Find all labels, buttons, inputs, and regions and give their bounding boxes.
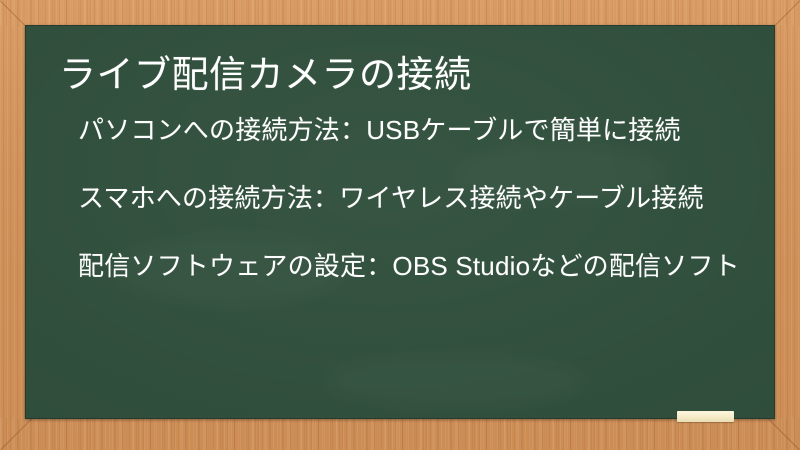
list-item: パソコンへの接続方法：USBケーブルで簡単に接続 [43,110,759,151]
list-item: スマホへの接続方法：ワイヤレス接続やケーブル接続 [43,178,759,219]
chalkboard-slide: ライブ配信カメラの接続 パソコンへの接続方法：USBケーブルで簡単に接続 スマホ… [0,0,800,450]
bullet-list: パソコンへの接続方法：USBケーブルで簡単に接続 スマホへの接続方法：ワイヤレス… [43,110,759,287]
list-item: 配信ソフトウェアの設定：OBS Studioなどの配信ソフト [43,246,759,287]
frame-rail-top [0,0,800,26]
chalk-stick [677,411,734,422]
chalk-smudge [325,355,585,407]
frame-rail-bottom [0,418,800,450]
chalkboard-surface: ライブ配信カメラの接続 パソコンへの接続方法：USBケーブルで簡単に接続 スマホ… [25,25,775,419]
slide-title: ライブ配信カメラの接続 [59,51,472,99]
